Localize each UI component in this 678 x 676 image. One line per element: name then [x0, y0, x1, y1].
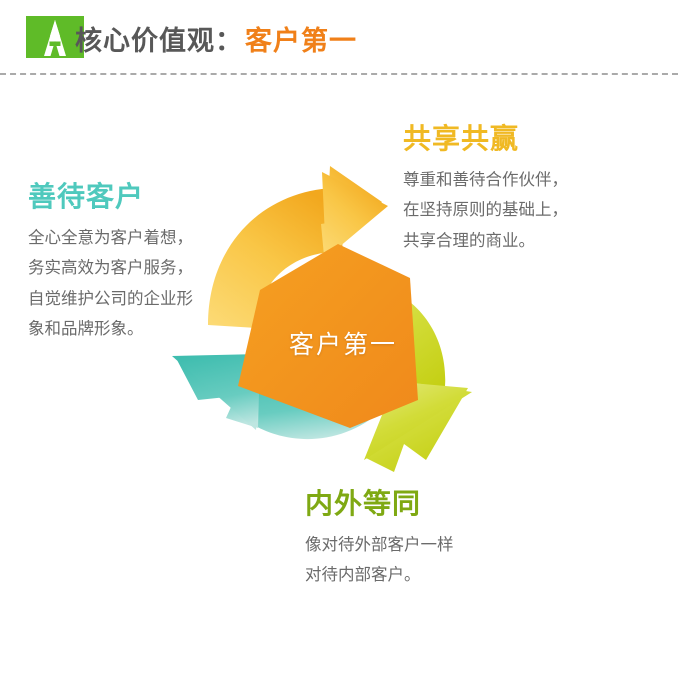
value-block-left-body: 全心全意为客户着想， 务实高效为客户服务， 自觉维护公司的企业形 象和品牌形象。	[28, 223, 193, 345]
header-divider	[0, 73, 678, 75]
value-block-right-body: 尊重和善待合作伙伴， 在坚持原则的基础上， 共享合理的商业。	[403, 165, 568, 257]
page-title-accent: 客户第一	[245, 19, 357, 58]
value-block-bottom: 内外等同 像对待外部客户一样 对待内部客户。	[305, 489, 454, 591]
value-block-right-line: 共享合理的商业。	[403, 226, 568, 257]
value-block-right: 共享共赢 尊重和善待合作伙伴， 在坚持原则的基础上， 共享合理的商业。	[403, 124, 568, 256]
page-title-main: 核心价值观：	[75, 19, 243, 58]
value-block-right-title: 共享共赢	[403, 124, 568, 155]
page-header: 核心价值观： 客户第一	[0, 0, 678, 74]
value-block-left-line: 自觉维护公司的企业形	[28, 284, 193, 315]
value-block-left-line: 全心全意为客户着想，	[28, 223, 193, 254]
value-block-right-line: 尊重和善待合作伙伴，	[403, 165, 568, 196]
value-block-bottom-body: 像对待外部客户一样 对待内部客户。	[305, 530, 454, 591]
value-block-left-title: 善待客户	[28, 182, 193, 213]
page-title: 核心价值观： 客户第一	[75, 17, 357, 59]
value-block-bottom-line: 像对待外部客户一样	[305, 530, 454, 561]
value-block-left-line: 务实高效为客户服务，	[28, 253, 193, 284]
value-block-bottom-line: 对待内部客户。	[305, 560, 454, 591]
value-block-left: 善待客户 全心全意为客户着想， 务实高效为客户服务， 自觉维护公司的企业形 象和…	[28, 182, 193, 345]
value-block-bottom-title: 内外等同	[305, 489, 454, 520]
value-block-left-line: 象和品牌形象。	[28, 314, 193, 345]
value-block-right-line: 在坚持原则的基础上，	[403, 195, 568, 226]
